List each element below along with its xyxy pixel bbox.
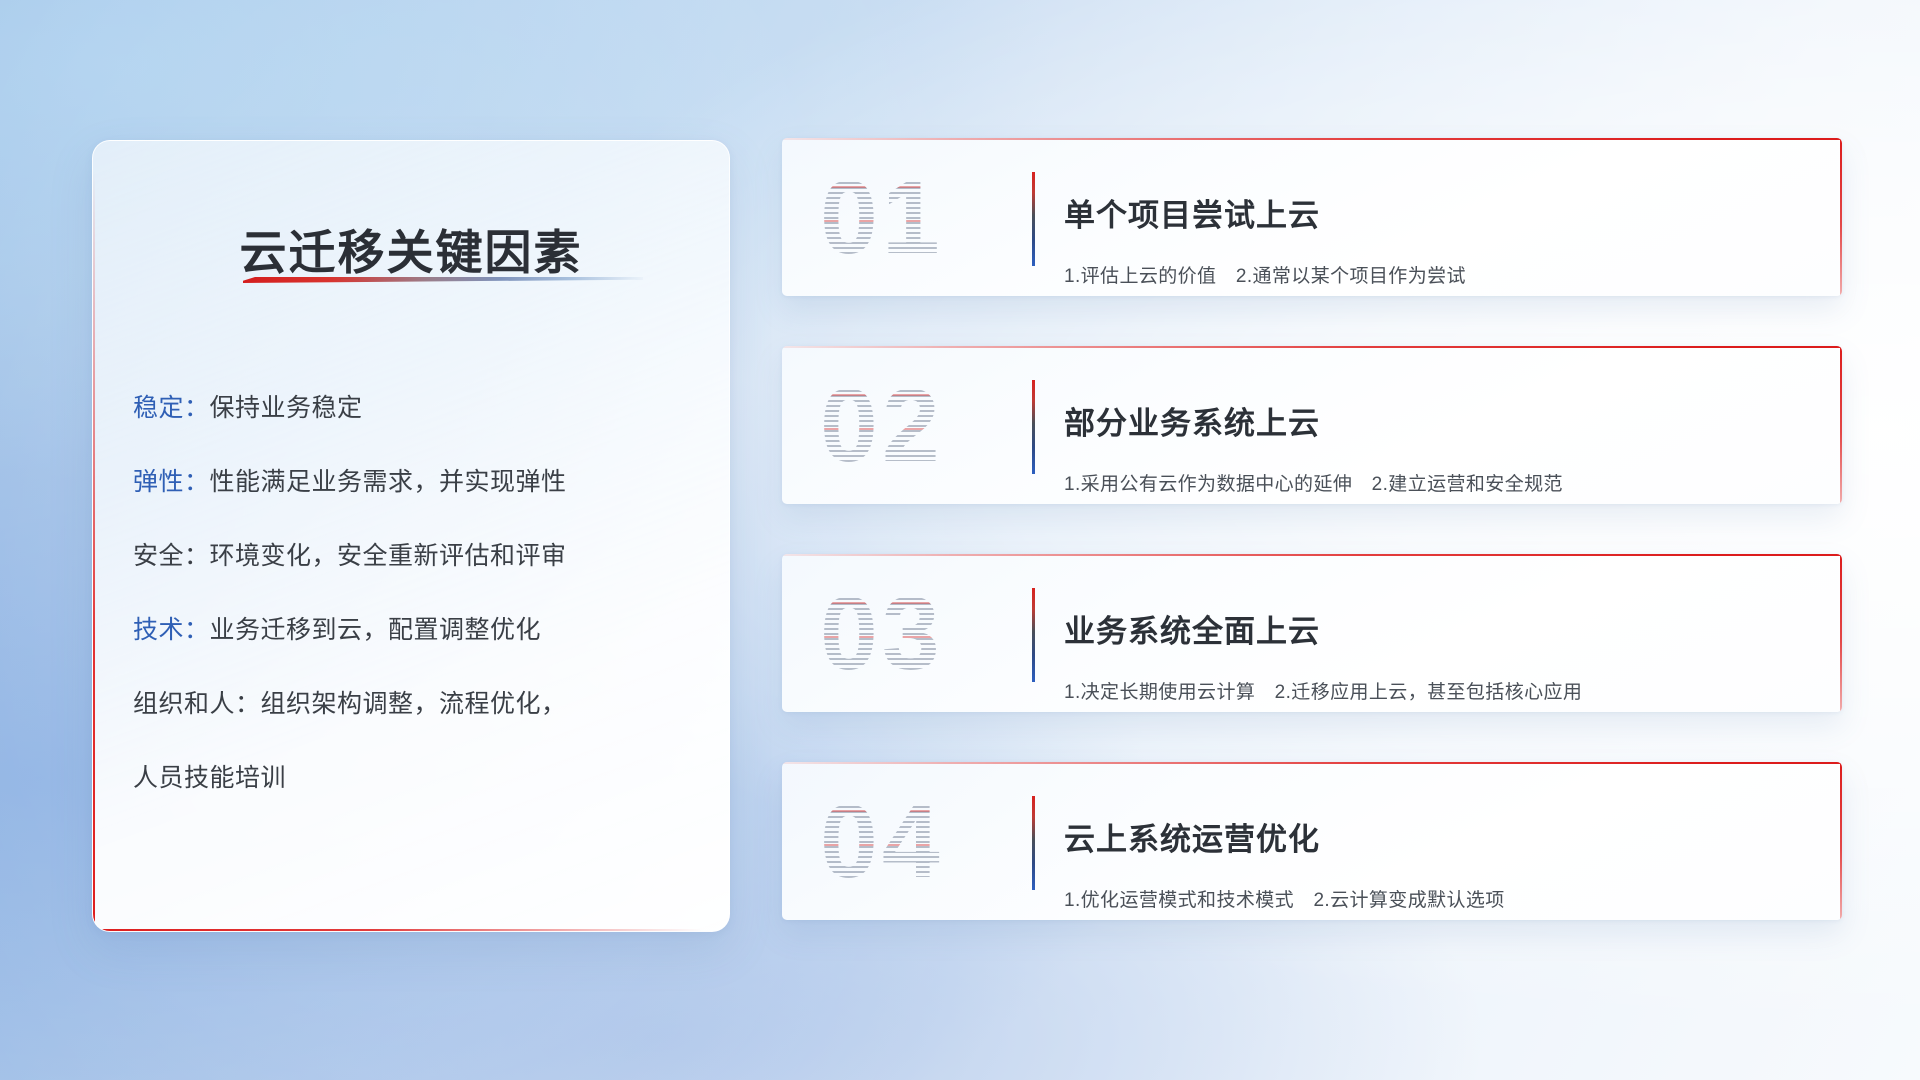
card-divider-bar (1032, 588, 1035, 682)
card-description: 1.优化运营模式和技术模式 2.云计算变成默认选项 (1064, 887, 1812, 915)
card-right-accent (1840, 138, 1842, 296)
list-item-label: 稳定： (133, 394, 210, 422)
slide-stage: 云迁移关键因素 稳定：保持业务稳定 弹性：性能满足业务需求，并实现弹性 安全：环… (0, 0, 1920, 1080)
card-top-accent (782, 762, 1842, 764)
list-item-continuation: 人员技能培训 (133, 741, 703, 815)
panel-title: 云迁移关键因素 (93, 214, 729, 283)
list-item-label: 安全： (133, 542, 210, 570)
card-top-accent (782, 554, 1842, 556)
list-item: 安全：环境变化，安全重新评估和评审 (133, 519, 703, 593)
list-item: 稳定：保持业务稳定 (133, 371, 703, 445)
card-body: 单个项目尝试上云 1.评估上云的价值 2.通常以某个项目作为尝试 (1064, 168, 1812, 296)
list-item-label: 弹性： (133, 468, 210, 496)
card-body: 云上系统运营优化 1.优化运营模式和技术模式 2.云计算变成默认选项 (1064, 792, 1812, 920)
stage-cards-list: 01 01 单个项目尝试上云 1.评估上云的价值 2.通常以某个项目作为尝试 0… (782, 138, 1842, 970)
card-body: 业务系统全面上云 1.决定长期使用云计算 2.迁移应用上云，甚至包括核心应用 (1064, 584, 1812, 712)
list-item: 弹性：性能满足业务需求，并实现弹性 (133, 445, 703, 519)
stage-card[interactable]: 01 01 单个项目尝试上云 1.评估上云的价值 2.通常以某个项目作为尝试 (782, 138, 1842, 296)
card-step-number: 02 (820, 360, 1020, 492)
list-item-text: 业务迁移到云，配置调整优化 (210, 616, 542, 644)
card-divider-bar (1032, 380, 1035, 474)
panel-left-accent-bar (93, 171, 95, 931)
card-description: 1.采用公有云作为数据中心的延伸 2.建立运营和安全规范 (1064, 471, 1812, 499)
card-right-accent (1840, 762, 1842, 920)
list-item-text: 保持业务稳定 (210, 394, 363, 422)
card-step-number: 04 (820, 776, 1020, 908)
card-divider-bar (1032, 796, 1035, 890)
list-item-label: 组织和人： (133, 690, 261, 718)
list-item-text: 人员技能培训 (133, 764, 286, 792)
list-item: 组织和人：组织架构调整，流程优化， (133, 667, 703, 741)
card-body: 部分业务系统上云 1.采用公有云作为数据中心的延伸 2.建立运营和安全规范 (1064, 376, 1812, 504)
stage-card[interactable]: 03 03 业务系统全面上云 1.决定长期使用云计算 2.迁移应用上云，甚至包括… (782, 554, 1842, 712)
list-item-text: 性能满足业务需求，并实现弹性 (210, 468, 567, 496)
card-top-accent (782, 346, 1842, 348)
card-right-accent (1840, 554, 1842, 712)
list-item-text: 环境变化，安全重新评估和评审 (210, 542, 567, 570)
list-item-text: 组织架构调整，流程优化， (261, 690, 567, 718)
key-factors-panel: 云迁移关键因素 稳定：保持业务稳定 弹性：性能满足业务需求，并实现弹性 安全：环… (92, 140, 730, 932)
card-heading: 单个项目尝试上云 (1064, 194, 1812, 238)
card-description: 1.决定长期使用云计算 2.迁移应用上云，甚至包括核心应用 (1064, 679, 1812, 707)
card-heading: 业务系统全面上云 (1064, 610, 1812, 654)
card-heading: 云上系统运营优化 (1064, 818, 1812, 862)
card-step-number: 03 (820, 568, 1020, 700)
list-item: 技术：业务迁移到云，配置调整优化 (133, 593, 703, 667)
card-divider-bar (1032, 172, 1035, 266)
list-item-label: 技术： (133, 616, 210, 644)
card-step-number: 01 (820, 152, 1020, 284)
card-right-accent (1840, 346, 1842, 504)
stage-card[interactable]: 04 04 云上系统运营优化 1.优化运营模式和技术模式 2.云计算变成默认选项 (782, 762, 1842, 920)
panel-bottom-accent-bar (93, 929, 703, 931)
card-top-accent (782, 138, 1842, 140)
card-description: 1.评估上云的价值 2.通常以某个项目作为尝试 (1064, 263, 1812, 291)
stage-card[interactable]: 02 02 部分业务系统上云 1.采用公有云作为数据中心的延伸 2.建立运营和安… (782, 346, 1842, 504)
card-heading: 部分业务系统上云 (1064, 402, 1812, 446)
key-factors-list: 稳定：保持业务稳定 弹性：性能满足业务需求，并实现弹性 安全：环境变化，安全重新… (133, 371, 703, 815)
